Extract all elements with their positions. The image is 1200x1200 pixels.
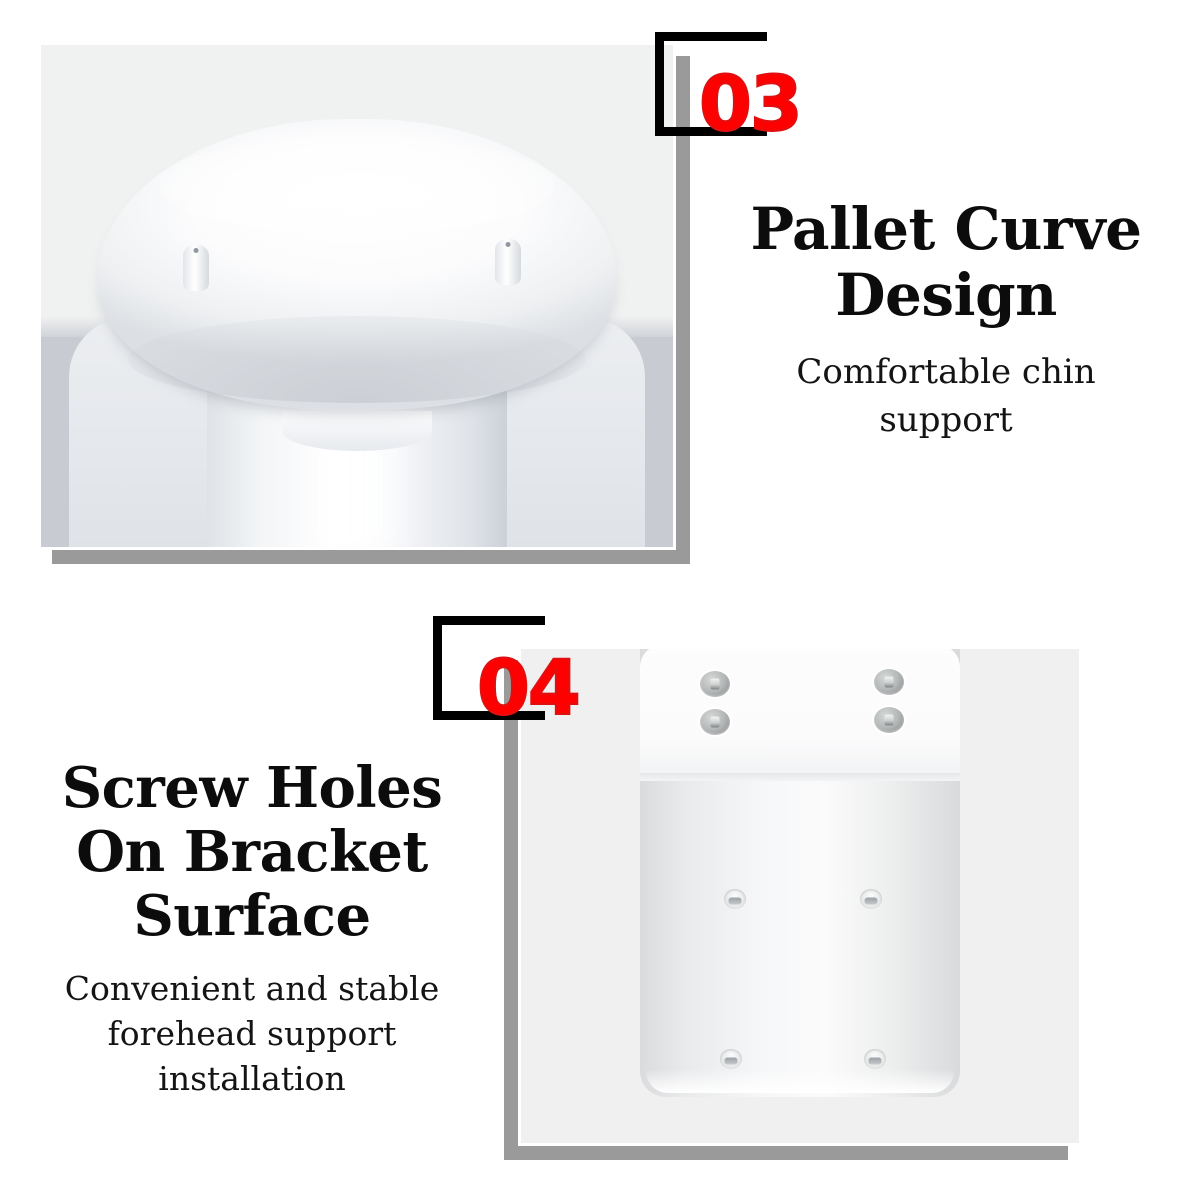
pad-highlight xyxy=(159,136,554,235)
bracket-plate-edge-highlight xyxy=(646,1069,954,1093)
feature-text-screw-holes: Screw Holes On Bracket Surface Convenien… xyxy=(6,756,498,1101)
bracket-plate-upper-face xyxy=(640,649,960,775)
feature-subtitle-04-line-3: installation xyxy=(6,1056,498,1101)
screw-hole-icon-lower-left xyxy=(720,1049,742,1069)
feature-title-04-line-2: On Bracket xyxy=(6,820,498,884)
feature-subtitle-03: Comfortable chin support xyxy=(700,348,1192,444)
feature-title-04-line-3: Surface xyxy=(6,884,498,948)
peg-icon-right xyxy=(495,239,521,285)
feature-title-04: Screw Holes On Bracket Surface xyxy=(6,756,498,948)
photo-plate xyxy=(518,646,1082,1146)
feature-title-03: Pallet Curve Design xyxy=(700,196,1192,328)
feature-title-03-line-2: Design xyxy=(700,262,1192,328)
feature-subtitle-03-line-2: support xyxy=(700,396,1192,444)
bracket-plate-fold xyxy=(640,773,960,781)
feature-subtitle-04: Convenient and stable forehead support i… xyxy=(6,966,498,1101)
screw-icon-top-right xyxy=(874,669,904,695)
bracket-plate-body xyxy=(640,649,960,1097)
pad-shading xyxy=(128,316,586,403)
feature-photo-screw-holes xyxy=(504,646,1082,1160)
screw-hole-icon-upper-right xyxy=(860,889,882,909)
screw-hole-icon-upper-left xyxy=(724,889,746,909)
screw-icon-bottom-right xyxy=(874,707,904,733)
feature-number-04: 04 xyxy=(477,650,579,726)
feature-subtitle-03-line-1: Comfortable chin xyxy=(700,348,1192,396)
feature-text-pallet-curve: Pallet Curve Design Comfortable chin sup… xyxy=(700,196,1192,444)
photo-scene-bracket-plate xyxy=(521,649,1079,1143)
photo-scene-chin-pallet xyxy=(41,45,673,547)
screw-icon-bottom-left xyxy=(700,709,730,735)
infographic-page: 03 Pallet Curve Design Comfortable chin … xyxy=(0,0,1200,1200)
peg-icon-left xyxy=(183,245,209,291)
feature-number-03: 03 xyxy=(699,66,801,142)
chin-notch xyxy=(282,411,432,451)
feature-subtitle-04-line-1: Convenient and stable xyxy=(6,966,498,1011)
feature-title-03-line-1: Pallet Curve xyxy=(700,196,1192,262)
screw-hole-icon-lower-right xyxy=(864,1049,886,1069)
chin-pallet-pad xyxy=(97,119,617,409)
feature-subtitle-04-line-2: forehead support xyxy=(6,1011,498,1056)
screw-icon-top-left xyxy=(700,671,730,697)
feature-photo-pallet-curve xyxy=(38,42,690,564)
feature-title-04-line-1: Screw Holes xyxy=(6,756,498,820)
photo-plate xyxy=(38,42,676,550)
